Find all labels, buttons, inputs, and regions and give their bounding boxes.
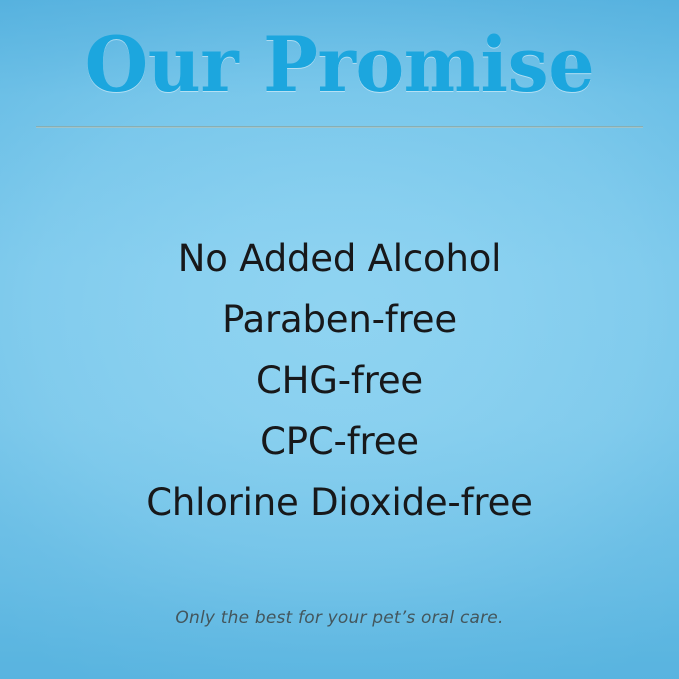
- promise-poster: Our Promise No Added Alcohol Paraben-fre…: [0, 0, 679, 679]
- footer-tagline: Only the best for your pet’s oral care.: [175, 608, 503, 628]
- header-divider: [36, 126, 643, 128]
- promise-list: No Added Alcohol Paraben-free CHG-free C…: [0, 228, 679, 533]
- list-item: Paraben-free: [0, 289, 679, 350]
- footer: Only the best for your pet’s oral care.: [0, 608, 679, 628]
- list-item: CHG-free: [0, 350, 679, 411]
- list-item: Chlorine Dioxide-free: [0, 472, 679, 533]
- list-item: No Added Alcohol: [0, 228, 679, 289]
- list-item: CPC-free: [0, 411, 679, 472]
- page-title: Our Promise: [0, 27, 679, 103]
- page-title-text: Our Promise: [85, 27, 595, 103]
